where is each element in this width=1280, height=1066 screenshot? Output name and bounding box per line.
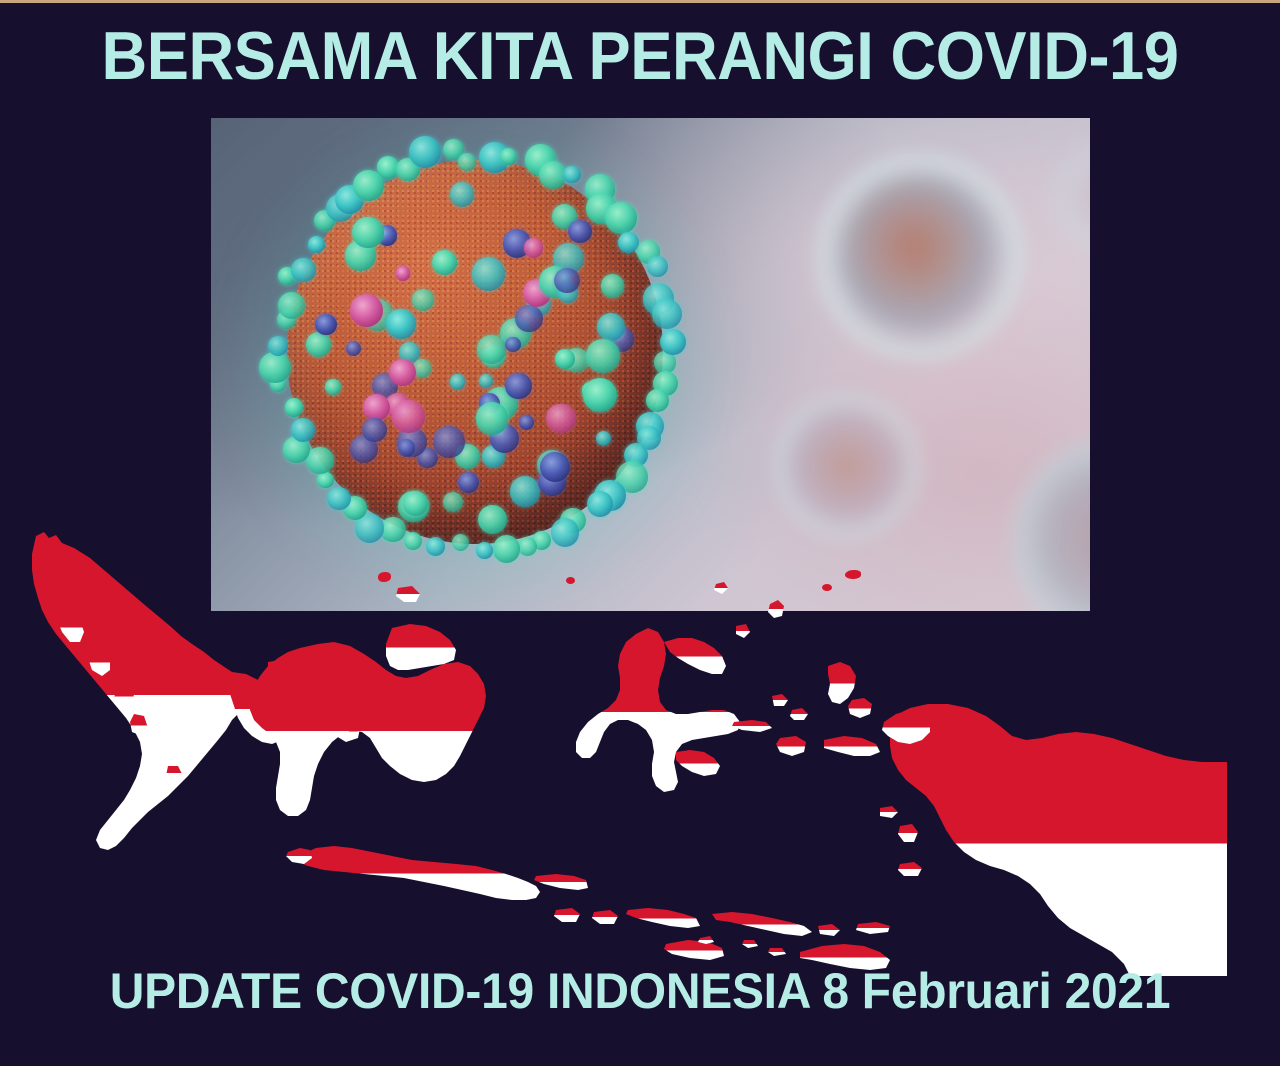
island-tanimbar (898, 862, 922, 876)
spike-protein (362, 418, 387, 443)
spike-protein (583, 378, 617, 412)
island-sula (732, 720, 772, 732)
island-java (298, 846, 540, 900)
spike-protein (450, 374, 466, 390)
spike-protein (433, 426, 465, 458)
spike-protein (476, 402, 508, 434)
spike-protein (409, 136, 441, 168)
indonesia-map (0, 508, 1280, 976)
island-alor (818, 924, 840, 936)
spike-protein (389, 359, 416, 386)
spike-protein (325, 379, 341, 395)
island-sumba (664, 940, 724, 960)
island-sulawesi-ne-arm (664, 638, 726, 674)
spike-protein (500, 148, 517, 165)
island-sumbawa (626, 908, 700, 928)
spike-protein (647, 256, 668, 277)
spike-protein (315, 314, 336, 335)
island-aru (898, 824, 918, 842)
spike-protein (477, 335, 505, 363)
island-madura (534, 874, 588, 890)
island-kalimantan-north (386, 624, 456, 670)
spike-protein (472, 257, 505, 290)
map-landmasses (32, 532, 1227, 976)
spike-protein (601, 274, 624, 297)
indonesia-map-svg (0, 508, 1280, 976)
spike-protein (392, 400, 424, 432)
spike-protein (563, 166, 580, 183)
spike-protein (352, 217, 383, 248)
update-caption: UPDATE COVID-19 INDONESIA 8 Februari 202… (26, 963, 1255, 1019)
spike-protein (412, 289, 434, 311)
background-virion-1-core (839, 176, 1001, 338)
spike-protein (398, 439, 416, 457)
island-nt-speck-2 (742, 940, 758, 948)
island-talaud (768, 600, 784, 618)
island-halmahera (828, 662, 856, 704)
spike-protein (346, 341, 361, 356)
island-papua (890, 704, 1227, 976)
top-border-rule (0, 0, 1280, 3)
island-kei (880, 806, 898, 818)
island-bali (554, 908, 580, 922)
island-halmahera-2 (848, 698, 872, 718)
island-nt-speck-3 (768, 948, 786, 956)
spike-protein (555, 349, 575, 369)
island-maluku-speck-1 (790, 708, 808, 720)
spike-protein (554, 268, 580, 294)
spike-protein (546, 404, 575, 433)
covid-update-poster: BERSAMA KITA PERANGI COVID-19 (0, 0, 1280, 1066)
spike-protein (413, 359, 431, 377)
page-title: BERSAMA KITA PERANGI COVID-19 (45, 22, 1235, 90)
spike-protein (291, 258, 316, 283)
spike-protein (458, 472, 479, 493)
spike-protein (259, 352, 291, 384)
island-sumatra (32, 532, 252, 850)
island-buru (776, 736, 806, 756)
spike-protein (660, 329, 686, 355)
island-natuna (396, 586, 420, 602)
island-flores (712, 912, 812, 936)
spike-protein (450, 182, 474, 206)
spike-protein (586, 339, 620, 373)
background-virion-4-icon (1049, 138, 1090, 258)
spike-protein (519, 415, 534, 430)
spike-protein (386, 309, 416, 339)
spike-protein (510, 476, 541, 507)
island-sangihe (736, 624, 750, 638)
spike-protein (308, 236, 325, 253)
island-sulawesi-se-arm (676, 750, 720, 776)
island-maluku-speck-2 (772, 694, 788, 706)
spike-protein (458, 153, 476, 171)
spike-protein (306, 447, 333, 474)
spike-protein (605, 202, 637, 234)
spike-protein (646, 389, 669, 412)
island-wetar (856, 922, 890, 934)
island-kalimantan (250, 642, 486, 816)
island-papua-birds-head (882, 710, 930, 744)
island-north-speck (714, 582, 728, 594)
spike-protein (327, 487, 351, 511)
spike-protein (540, 452, 570, 482)
island-lombok (592, 910, 618, 924)
spike-protein (432, 250, 457, 275)
spike-protein (396, 266, 410, 280)
spike-protein (350, 294, 383, 327)
island-seram (824, 736, 880, 756)
